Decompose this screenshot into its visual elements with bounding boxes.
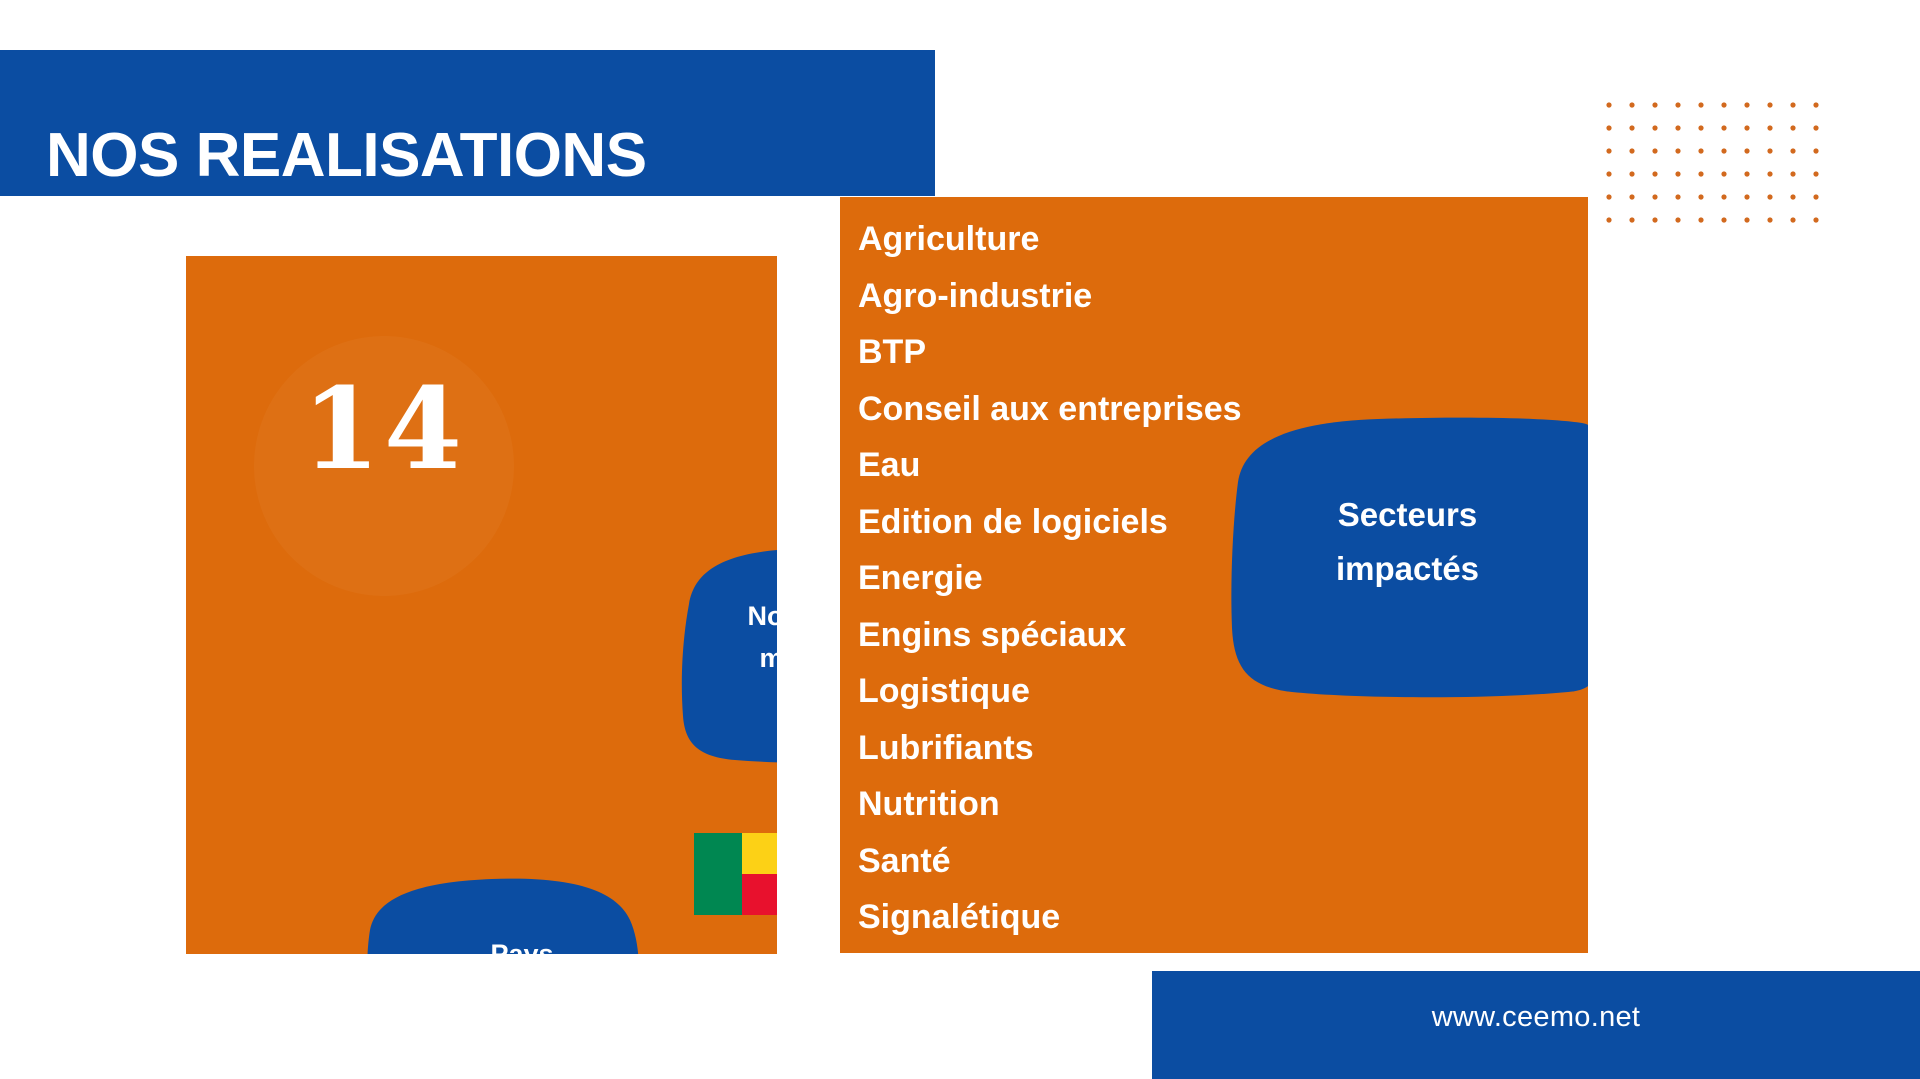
benin-flag	[694, 833, 777, 915]
benin-flag-red-stripe	[742, 874, 777, 915]
footer-banner: www.ceemo.net	[1152, 971, 1920, 1079]
missions-label-line2: missions	[699, 638, 777, 680]
sectors-label: Secteurs impactés	[1230, 488, 1588, 597]
sectors-label-line2: impactés	[1290, 542, 1525, 596]
list-item: Agriculture	[858, 211, 1588, 268]
countries-label-blob: Pays concernés	[366, 874, 678, 954]
missions-label-blob: Nombre de missions	[673, 546, 777, 764]
benin-flag-yellow-stripe	[742, 833, 777, 874]
benin-flag-stripes	[742, 833, 777, 915]
benin-flag-green-band	[694, 833, 742, 915]
list-item: Santé	[858, 833, 1588, 890]
missions-count: 14	[186, 374, 582, 486]
sectors-label-line1: Secteurs	[1290, 488, 1525, 542]
list-item: Agro-industrie	[858, 268, 1588, 325]
website-url[interactable]: www.ceemo.net	[1152, 1001, 1920, 1034]
missions-label: Nombre de missions	[673, 596, 777, 680]
slide-canvas: NOS REALISATIONS 14 Nombre de missions	[0, 0, 1920, 1079]
list-item: BTP	[858, 324, 1588, 381]
missions-and-countries-panel: 14 Nombre de missions	[186, 256, 777, 954]
dot-grid-decoration	[1606, 102, 1838, 228]
countries-label-line1: Pays	[410, 934, 634, 954]
sectors-label-blob: Secteurs impactés	[1230, 416, 1588, 698]
countries-label: Pays concernés	[366, 934, 678, 954]
page-title: NOS REALISATIONS	[46, 125, 647, 187]
sectors-panel: Agriculture Agro-industrie BTP Conseil a…	[840, 197, 1588, 953]
list-item: Nutrition	[858, 776, 1588, 833]
list-item: Lubrifiants	[858, 720, 1588, 777]
dot-grid-icon	[1606, 102, 1838, 228]
list-item: Signalétique	[858, 889, 1588, 946]
missions-label-line1: Nombre de	[699, 596, 777, 638]
